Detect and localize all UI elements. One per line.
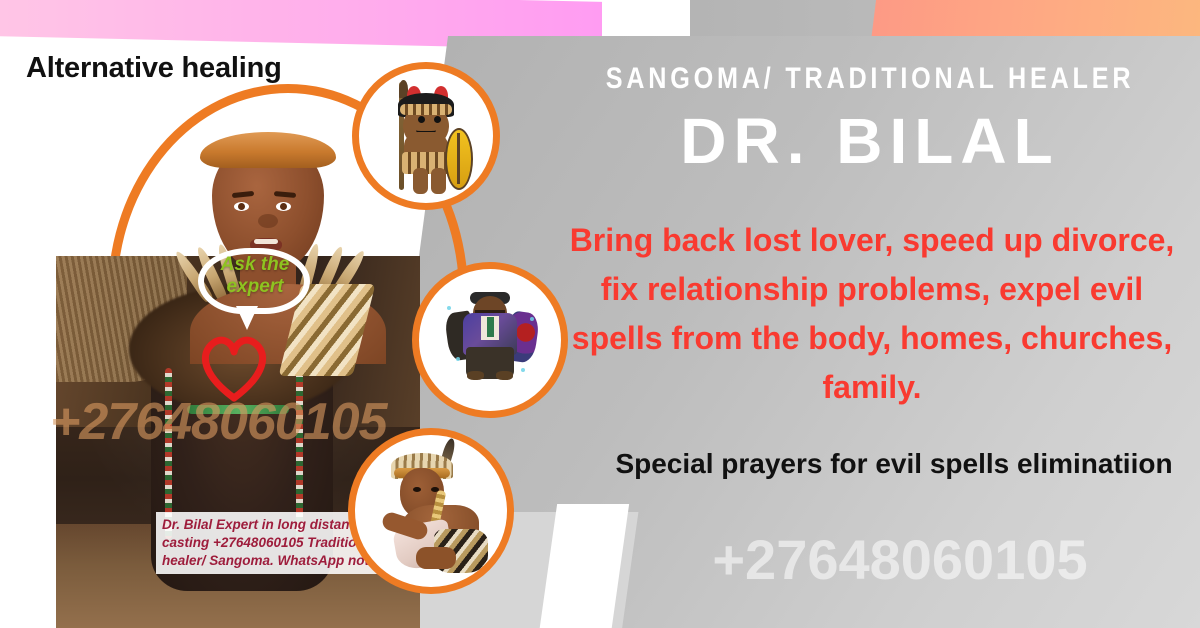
- alternative-healing-headline: Alternative healing: [26, 52, 282, 85]
- badge-zulu-warrior: [352, 62, 500, 210]
- left-artwork-area: Ask the expert +27648060105 Dr. Bilal Ex…: [0, 0, 560, 628]
- crouching-healer-illustration: [355, 435, 507, 587]
- speech-bubble-text: Ask the expert: [200, 254, 310, 298]
- services-text: Bring back lost lover, speed up divorce,…: [554, 216, 1190, 412]
- heart-outline-icon: [196, 332, 272, 402]
- main-title: DR. BILAL: [540, 104, 1200, 178]
- zulu-warrior-illustration: [359, 69, 493, 203]
- phone-number-watermark: +27648060105: [600, 527, 1200, 592]
- eyebrow-title: SANGOMA/ TRADITIONAL HEALER: [593, 62, 1147, 96]
- badge-crouching-healer: [348, 428, 514, 594]
- poster-canvas: Ask the expert +27648060105 Dr. Bilal Ex…: [0, 0, 1200, 628]
- right-text-column: SANGOMA/ TRADITIONAL HEALER DR. BILAL Br…: [540, 0, 1200, 628]
- prayers-text: Special prayers for evil spells eliminat…: [594, 442, 1194, 486]
